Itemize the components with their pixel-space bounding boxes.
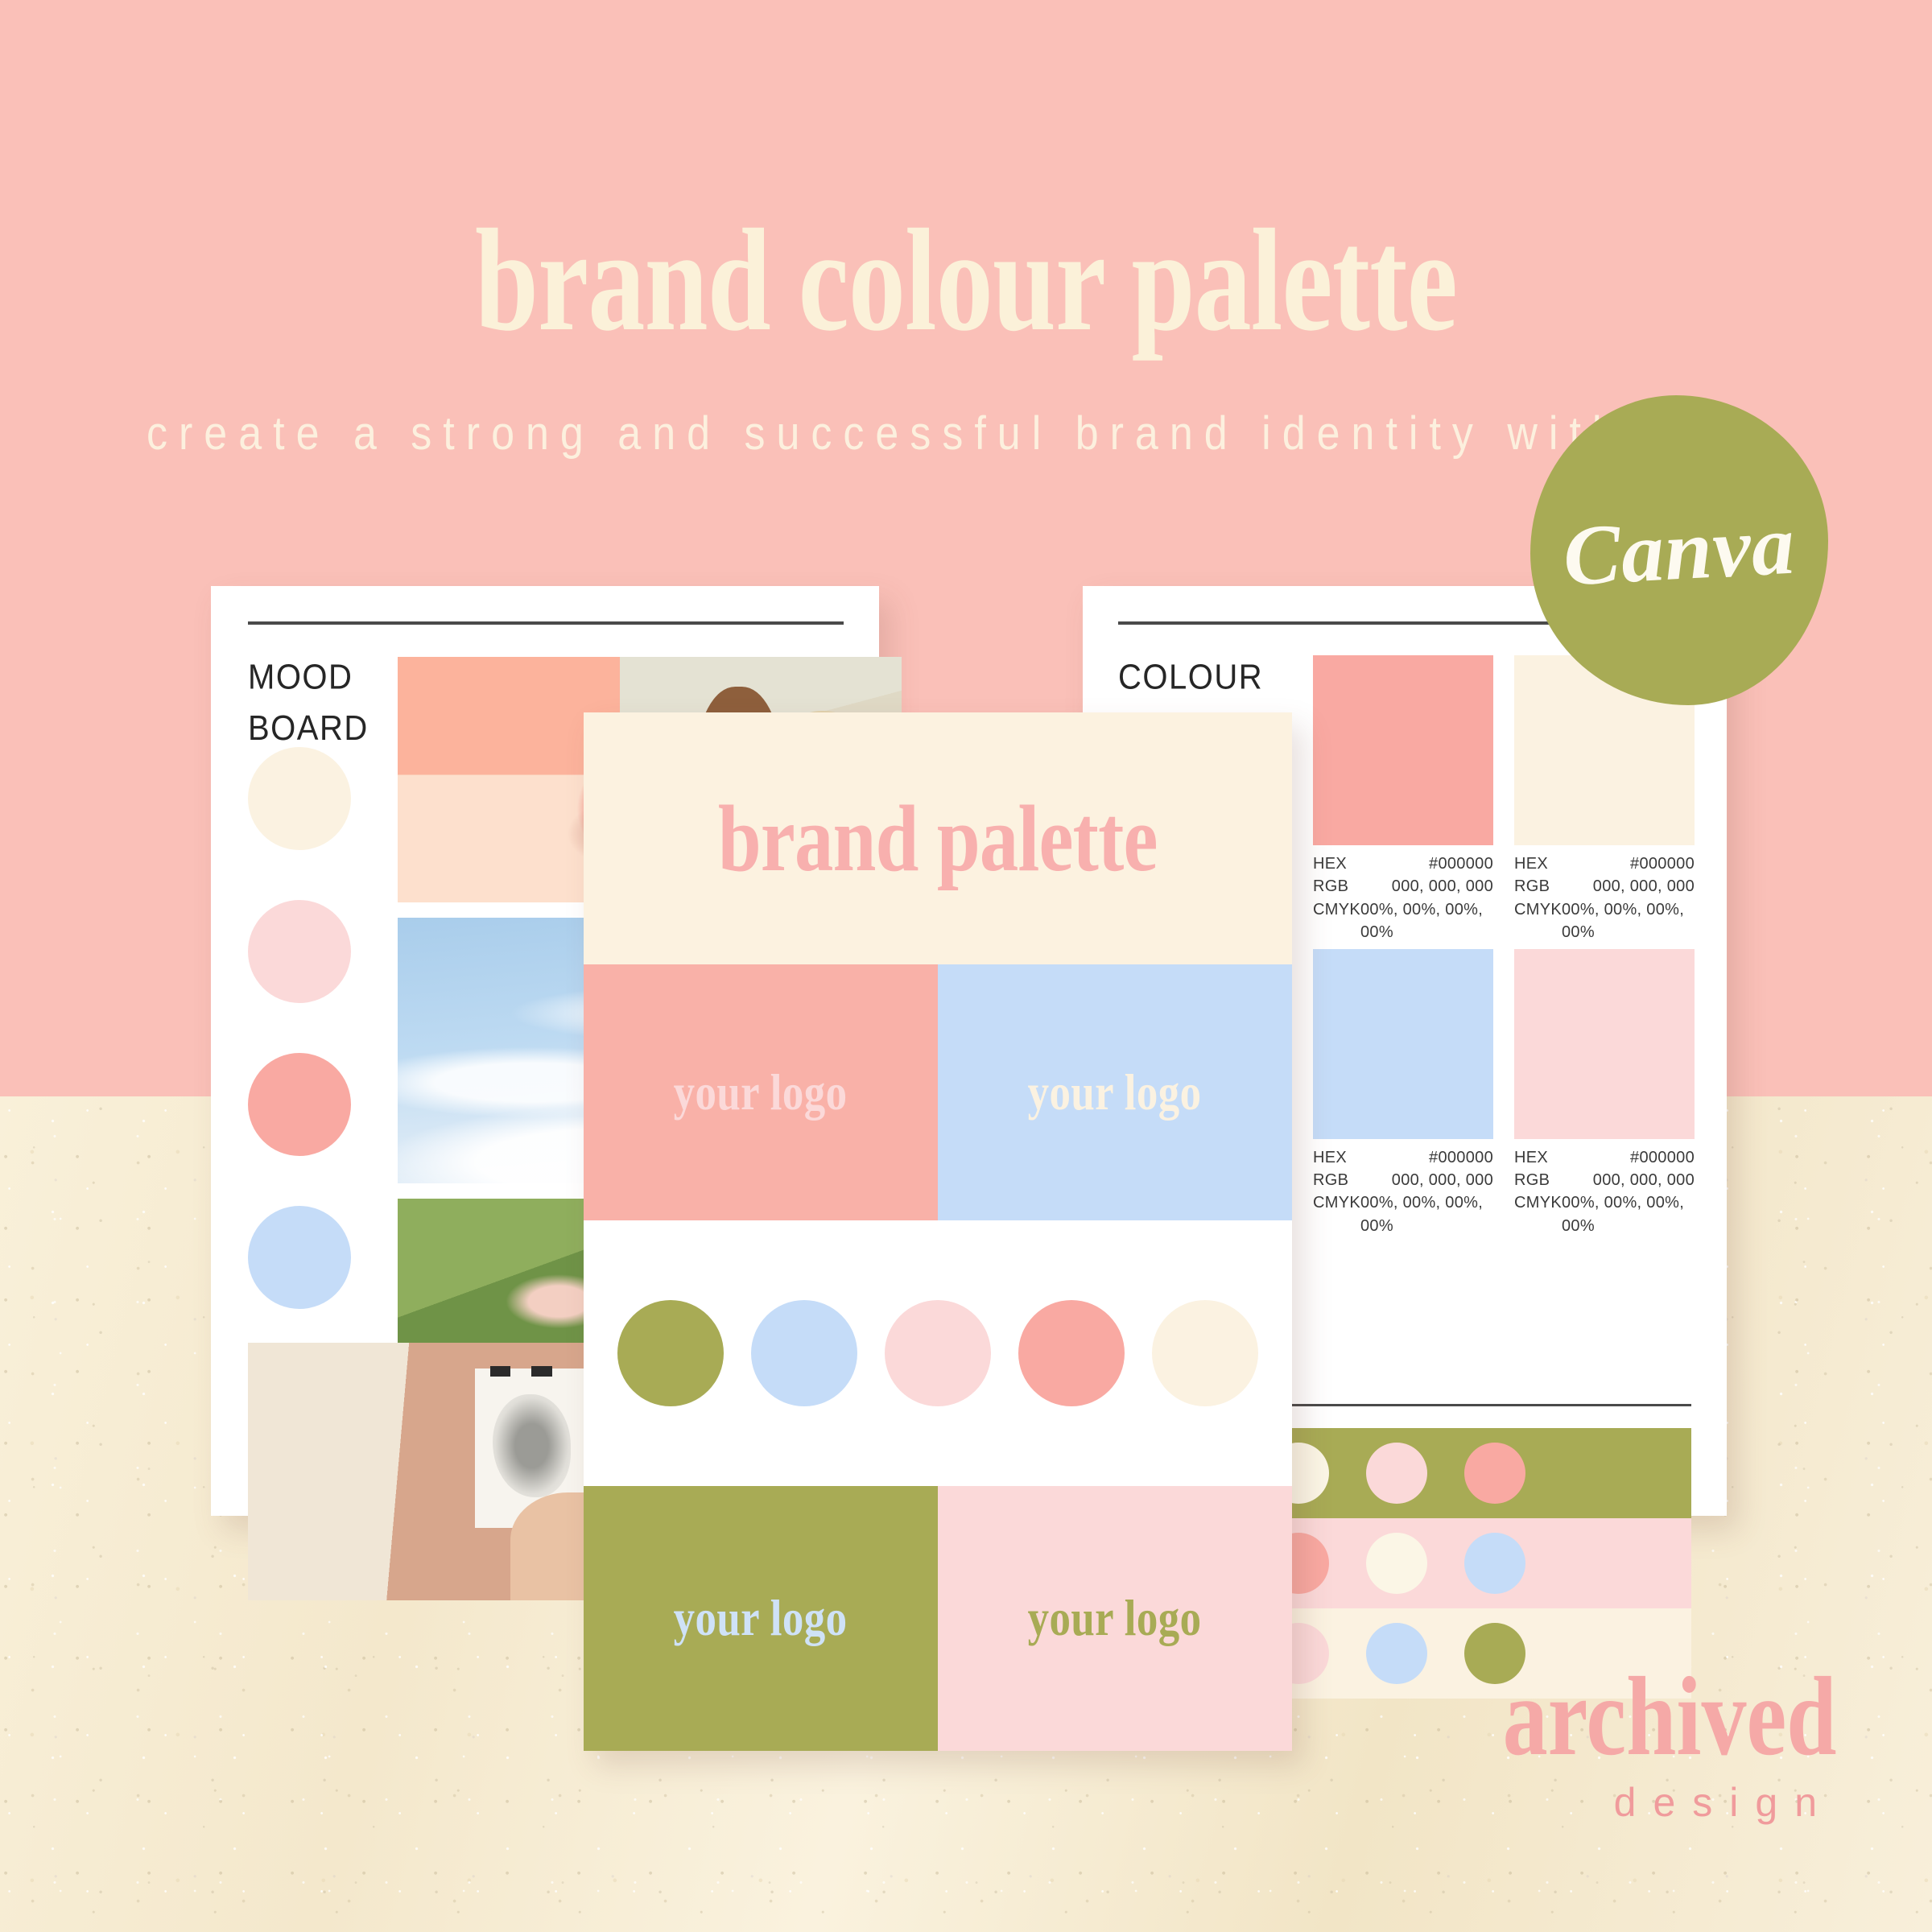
bulldog-clip-icon xyxy=(531,1366,551,1377)
mood-swatch-blue[interactable] xyxy=(248,1206,351,1309)
band-dot-salmon[interactable] xyxy=(1464,1443,1525,1504)
mood-board-heading: MOOD BOARD xyxy=(248,652,369,755)
brand-logo-row-bottom: your logo your logo xyxy=(584,1486,1292,1751)
brand-circle-blue[interactable] xyxy=(751,1300,857,1406)
footer-brand-name: archived xyxy=(1503,1666,1837,1769)
canva-badge[interactable]: Canva xyxy=(1530,395,1828,705)
mood-board-heading-line1: MOOD xyxy=(248,652,369,704)
hex-value: #000000 xyxy=(1429,1146,1493,1169)
logo-block-bottom-right[interactable]: your logo xyxy=(938,1486,1292,1751)
cmyk-value: 00%, 00%, 00%, 00% xyxy=(1562,1191,1695,1237)
rgb-value: 000, 000, 000 xyxy=(1392,1169,1493,1191)
swatch-light-pink[interactable] xyxy=(1514,949,1695,1139)
rgb-label: RGB xyxy=(1313,875,1348,898)
band-dot-light-pink[interactable] xyxy=(1366,1443,1427,1504)
cmyk-label: CMYK xyxy=(1313,1191,1360,1237)
band-dot-blue[interactable] xyxy=(1464,1533,1525,1594)
brand-palette-header: brand palette xyxy=(584,712,1292,964)
cmyk-value: 00%, 00%, 00%, 00% xyxy=(1360,898,1493,944)
brand-circle-light-pink[interactable] xyxy=(885,1300,991,1406)
mood-swatch-salmon[interactable] xyxy=(248,1053,351,1156)
logo-placeholder-text: your logo xyxy=(1028,1589,1202,1648)
rgb-label: RGB xyxy=(1313,1169,1348,1191)
brand-logo-row-top: your logo your logo xyxy=(584,964,1292,1220)
footer-brand-logo: archived design xyxy=(1419,1666,1837,1826)
cmyk-label: CMYK xyxy=(1514,898,1562,944)
cmyk-label: CMYK xyxy=(1514,1191,1562,1237)
hex-value: #000000 xyxy=(1429,852,1493,875)
logo-placeholder-text: your logo xyxy=(674,1589,848,1648)
rgb-label: RGB xyxy=(1514,875,1550,898)
swatch-blue[interactable] xyxy=(1313,949,1493,1139)
mood-swatch-cream[interactable] xyxy=(248,747,351,850)
logo-placeholder-text: your logo xyxy=(1028,1063,1202,1122)
swatch-salmon[interactable] xyxy=(1313,655,1493,845)
cmyk-value: 00%, 00%, 00%, 00% xyxy=(1562,898,1695,944)
bulldog-clip-icon xyxy=(490,1366,510,1377)
brand-circle-olive[interactable] xyxy=(617,1300,724,1406)
colour-code-cell-blue[interactable]: HEX#000000 RGB000, 000, 000 CMYK00%, 00%… xyxy=(1313,949,1493,1238)
swatch-values: HEX#000000 RGB000, 000, 000 CMYK00%, 00%… xyxy=(1313,845,1493,944)
hex-label: HEX xyxy=(1313,1146,1347,1169)
rgb-value: 000, 000, 000 xyxy=(1392,875,1493,898)
swatch-values: HEX#000000 RGB000, 000, 000 CMYK00%, 00%… xyxy=(1313,1139,1493,1238)
brand-palette-title: brand palette xyxy=(718,784,1158,894)
logo-block-top-left[interactable]: your logo xyxy=(584,964,938,1220)
mood-swatch-light-pink[interactable] xyxy=(248,900,351,1003)
logo-placeholder-text: your logo xyxy=(674,1063,848,1122)
rgb-value: 000, 000, 000 xyxy=(1593,1169,1695,1191)
hex-label: HEX xyxy=(1514,852,1548,875)
swatch-values: HEX#000000 RGB000, 000, 000 CMYK00%, 00%… xyxy=(1514,1139,1695,1238)
brand-circle-cream[interactable] xyxy=(1152,1300,1258,1406)
header: brand colour palette create a strong and… xyxy=(0,0,1932,464)
brand-circle-salmon[interactable] xyxy=(1018,1300,1125,1406)
rgb-label: RGB xyxy=(1514,1169,1550,1191)
brand-palette-card[interactable]: brand palette your logo your logo your l… xyxy=(584,712,1292,1751)
colour-codes-row: HEX#000000 RGB000, 000, 000 CMYK00%, 00%… xyxy=(1313,949,1695,1238)
page-title: brand colour palette xyxy=(213,208,1719,354)
hex-label: HEX xyxy=(1514,1146,1548,1169)
cmyk-value: 00%, 00%, 00%, 00% xyxy=(1360,1191,1493,1237)
hex-value: #000000 xyxy=(1630,1146,1695,1169)
colour-codes-grid: HEX#000000 RGB000, 000, 000 CMYK00%, 00%… xyxy=(1313,655,1695,1242)
band-dot-blue[interactable] xyxy=(1366,1623,1427,1684)
rgb-value: 000, 000, 000 xyxy=(1593,875,1695,898)
logo-block-bottom-left[interactable]: your logo xyxy=(584,1486,938,1751)
colour-codes-heading-line1: COLOUR xyxy=(1118,652,1263,704)
hex-label: HEX xyxy=(1313,852,1347,875)
band-dot-cream[interactable] xyxy=(1366,1533,1427,1594)
brand-palette-circle-row xyxy=(584,1220,1292,1486)
logo-block-top-right[interactable]: your logo xyxy=(938,964,1292,1220)
hex-value: #000000 xyxy=(1630,852,1695,875)
footer-tagline: design xyxy=(1419,1779,1837,1826)
swatch-values: HEX#000000 RGB000, 000, 000 CMYK00%, 00%… xyxy=(1514,845,1695,944)
colour-codes-row: HEX#000000 RGB000, 000, 000 CMYK00%, 00%… xyxy=(1313,655,1695,944)
colour-code-cell-light-pink[interactable]: HEX#000000 RGB000, 000, 000 CMYK00%, 00%… xyxy=(1514,949,1695,1238)
colour-code-cell-salmon[interactable]: HEX#000000 RGB000, 000, 000 CMYK00%, 00%… xyxy=(1313,655,1493,944)
mood-board-divider xyxy=(248,621,844,625)
canva-badge-label: Canva xyxy=(1561,495,1798,605)
cmyk-label: CMYK xyxy=(1313,898,1360,944)
